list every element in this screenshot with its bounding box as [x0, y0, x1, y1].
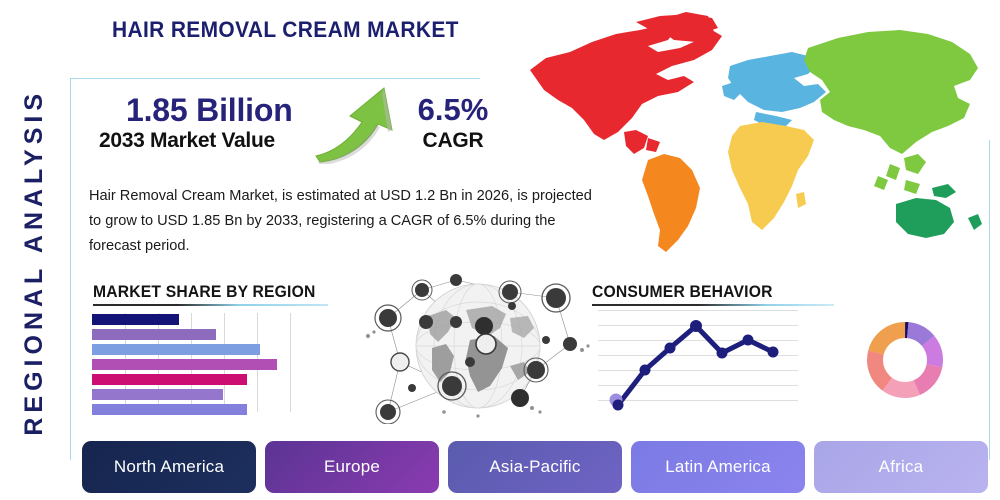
table-row: [92, 344, 260, 355]
region-button-north-america[interactable]: North America: [82, 441, 256, 493]
cagr-value: 6.5%: [398, 92, 508, 128]
vertical-section-label: REGIONAL ANALYSIS: [8, 62, 60, 462]
cagr-label: CAGR: [398, 129, 508, 153]
market-share-heading: MARKET SHARE BY REGION: [93, 283, 315, 302]
infographic-root: REGIONAL ANALYSIS HAIR REMOVAL CREAM MAR…: [0, 0, 1000, 500]
region-button-label: North America: [114, 457, 224, 477]
table-row: [92, 314, 179, 325]
vertical-section-label-text: REGIONAL ANALYSIS: [20, 89, 49, 436]
region-button-europe[interactable]: Europe: [265, 441, 439, 493]
region-button-label: Europe: [324, 457, 380, 477]
region-button-latin-america[interactable]: Latin America: [631, 441, 805, 493]
table-row: [92, 389, 223, 400]
table-row: [92, 359, 277, 370]
market-value-number: 1.85 Billion: [126, 92, 293, 129]
region-button-asia-pacific[interactable]: Asia-Pacific: [448, 441, 622, 493]
market-share-underline: [93, 304, 328, 306]
consumer-behavior-underline: [592, 304, 834, 306]
region-button-row: North America Europe Asia-Pacific Latin …: [82, 441, 988, 493]
page-title: HAIR REMOVAL CREAM MARKET: [112, 17, 459, 43]
global-network-icon: [360, 266, 592, 424]
consumer-behavior-line-chart: [598, 308, 798, 413]
region-button-label: Africa: [879, 457, 924, 477]
cagr-block: 6.5% CAGR: [398, 92, 508, 153]
growth-arrow-icon: [310, 82, 410, 164]
market-value-label: 2033 Market Value: [99, 129, 275, 153]
consumer-behavior-heading: CONSUMER BEHAVIOR: [592, 283, 773, 302]
table-row: [92, 329, 216, 340]
table-row: [92, 374, 247, 385]
region-button-label: Asia-Pacific: [489, 457, 580, 477]
market-description: Hair Removal Cream Market, is estimated …: [89, 184, 594, 259]
table-row: [92, 404, 247, 415]
consumer-donut-chart: [855, 310, 955, 410]
market-share-bar-chart: [92, 313, 300, 412]
region-button-label: Latin America: [665, 457, 771, 477]
region-button-africa[interactable]: Africa: [814, 441, 988, 493]
